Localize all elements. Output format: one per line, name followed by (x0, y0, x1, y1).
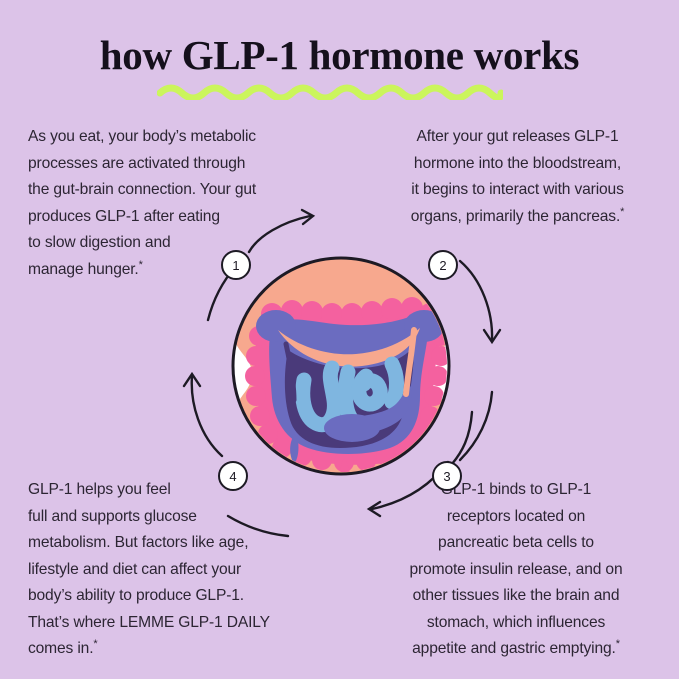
step-3-footnote-marker: * (616, 638, 620, 650)
step-1-text-block: As you eat, your body’s metabolic proces… (28, 124, 328, 283)
step-4-line-4: lifestyle and diet can affect your (28, 557, 338, 584)
step-2-line-4: organs, primarily the pancreas.* (375, 204, 660, 231)
transverse-lumen (278, 328, 420, 367)
arrow-tail-3 (452, 412, 472, 464)
descending-colon-highlight (406, 330, 414, 394)
arrow-head-2 (484, 330, 500, 342)
badge-2-label: 2 (439, 258, 446, 273)
step-2-line-3: it begins to interact with various (375, 177, 660, 204)
step-2-line-1: After your gut releases GLP-1 (375, 124, 660, 151)
colon-haustra-bottom (292, 446, 396, 472)
title-underline-wave (157, 82, 503, 100)
abdominal-cavity (285, 346, 414, 448)
step-1-line-5: to slow digestion and (28, 230, 328, 257)
step-4-line-3: metabolism. But factors like age, (28, 530, 338, 557)
infographic-root: how GLP-1 hormone works As you eat, your… (0, 0, 679, 679)
step-2-line-4-text: organs, primarily the pancreas. (411, 208, 620, 225)
step-1-line-4: produces GLP-1 after eating (28, 204, 328, 231)
step-1-line-2: processes are activated through (28, 151, 328, 178)
step-3-line-6: stomach, which influences (368, 610, 664, 637)
step-3-line-5: other tissues like the brain and (368, 583, 664, 610)
step-4-line-5: body’s ability to produce GLP-1. (28, 583, 338, 610)
circle-background (233, 258, 449, 474)
colon-haustra-sides (245, 326, 451, 458)
step-3-line-4: promote insulin release, and on (368, 557, 664, 584)
arrow-head-4 (184, 374, 200, 386)
circle-outline (233, 258, 449, 474)
step-3-line-3: pancreatic beta cells to (368, 530, 664, 557)
descending-colon-cap (404, 310, 444, 342)
colon-body (269, 317, 428, 454)
step-4-line-1: GLP-1 helps you feel (28, 477, 338, 504)
step-4-line-7-text: comes in. (28, 640, 93, 657)
rectum-drip (340, 458, 350, 494)
step-1-line-6-text: manage hunger. (28, 261, 139, 278)
cecum (324, 414, 380, 442)
step-4-line-7: comes in.* (28, 636, 338, 663)
step-4-line-6: That’s where LEMME GLP-1 DAILY (28, 610, 338, 637)
colon-pink-layer (245, 297, 451, 494)
step-4-footnote-marker: * (93, 638, 97, 650)
step-3-line-7: appetite and gastric emptying.* (368, 636, 664, 663)
step-3-line-2: receptors located on (368, 504, 664, 531)
step-2-footnote-marker: * (620, 205, 624, 217)
colon-periwinkle-layer (256, 310, 444, 454)
step-2-line-2: hormone into the bloodstream, (375, 151, 660, 178)
arrow-arc-2 (460, 261, 492, 340)
badge-2-circle (429, 251, 457, 279)
page-title: how GLP-1 hormone works (0, 32, 679, 78)
step-badge-2[interactable]: 2 (429, 251, 457, 279)
step-2-text-block: After your gut releases GLP-1 hormone in… (375, 124, 660, 230)
step-3-line-1: GLP-1 binds to GLP-1 (368, 477, 664, 504)
step-4-line-2: full and supports glucose (28, 504, 338, 531)
ascending-colon-shadow (286, 344, 294, 400)
step-1-line-6: manage hunger.* (28, 257, 328, 284)
appendix (290, 432, 298, 464)
gut-illustration-circle (233, 246, 451, 494)
header: how GLP-1 hormone works (0, 32, 679, 78)
intestine-illustration (245, 297, 451, 494)
ileum (330, 376, 411, 434)
step-1-footnote-marker: * (139, 258, 143, 270)
step-1-line-1: As you eat, your body’s metabolic (28, 124, 328, 151)
step-badges: 1 2 3 4 (219, 251, 461, 490)
step-1-line-3: the gut-brain connection. Your gut (28, 177, 328, 204)
colon-outer (255, 307, 442, 464)
ascending-colon-cap (256, 310, 296, 342)
colon-haustra-top (261, 297, 441, 325)
step-3-line-7-text: appetite and gastric emptying. (412, 640, 616, 657)
step-4-text-block: GLP-1 helps you feel full and supports g… (28, 477, 338, 663)
arrow-tail-2 (460, 392, 492, 460)
arrow-arc-4 (192, 376, 222, 456)
small-intestine-coils (303, 364, 397, 425)
step-3-text-block: GLP-1 binds to GLP-1 receptors located o… (368, 477, 664, 663)
